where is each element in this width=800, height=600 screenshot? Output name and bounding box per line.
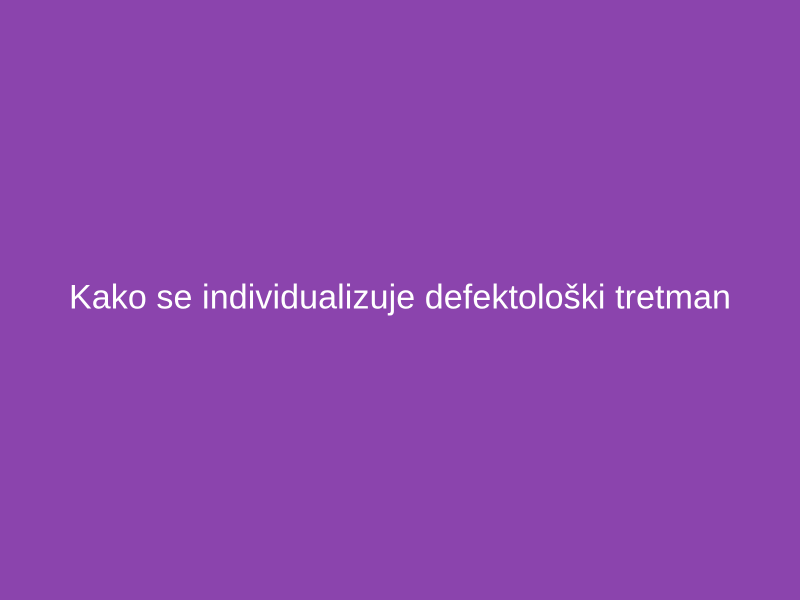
headline-container: Kako se individualizuje defektološki tre… xyxy=(0,278,800,317)
page-title: Kako se individualizuje defektološki tre… xyxy=(40,278,760,317)
featured-image-card: Kako se individualizuje defektološki tre… xyxy=(0,0,800,600)
